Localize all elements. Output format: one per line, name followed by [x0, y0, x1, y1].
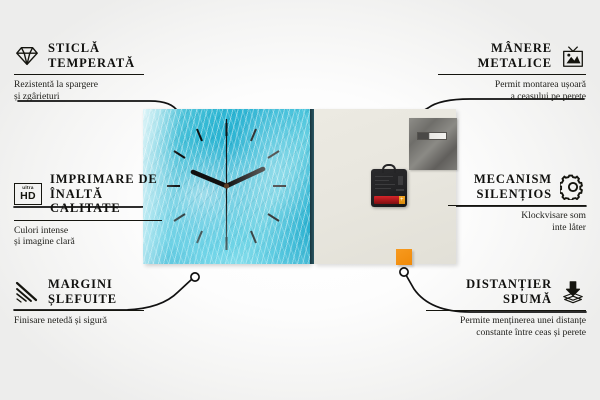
ultra-hd-icon-main-label: HD: [20, 191, 36, 202]
hour-marker: [268, 151, 279, 158]
clock-center-cap: [224, 183, 229, 188]
infographic-canvas: + STICLĂ TEMPERATĂ Rezistentă la sparger…: [0, 0, 600, 400]
feature-title: MECANISM SILENȚIOS: [474, 172, 552, 201]
feature-title: MARGINI ȘLEFUITE: [48, 277, 117, 306]
diamond-icon: [14, 43, 40, 69]
mechanism-detail: [375, 184, 395, 185]
hour-marker: [174, 151, 185, 158]
hour-hand: [193, 172, 227, 186]
mechanism-detail: [396, 189, 404, 191]
feature-foam-spacer: DISTANȚIER SPUMĂ Permite menținerea unei…: [414, 277, 586, 339]
feature-polished-edges: MARGINI ȘLEFUITE Finisare netedă și sigu…: [14, 277, 164, 327]
hour-marker: [251, 129, 256, 141]
feature-tempered-glass: STICLĂ TEMPERATĂ Rezistentă la spargere …: [14, 41, 164, 103]
connector-endpoint-foam-spacer: [400, 268, 408, 276]
feature-high-quality-print: ultra HD IMPRIMARE DE ÎNALTĂ CALITATE Cu…: [14, 172, 176, 248]
feature-silent-mechanism: MECANISM SILENȚIOS Klockvisare som inte …: [436, 172, 586, 234]
feature-title: STICLĂ TEMPERATĂ: [48, 41, 135, 70]
divider: [438, 74, 586, 75]
hour-marker: [268, 214, 279, 221]
mechanism-hanger-loop: [382, 164, 396, 173]
battery: +: [374, 196, 404, 204]
feature-title: MÂNERE METALICE: [478, 41, 552, 70]
mechanism-detail: [398, 176, 403, 185]
divider: [14, 220, 162, 221]
hour-marker: [197, 129, 202, 141]
polished-edges-icon: [14, 279, 40, 305]
divider: [14, 310, 144, 311]
mechanism-detail: [375, 176, 393, 177]
hour-marker: [197, 231, 202, 243]
feature-description: Permite menținerea unei distanțe constan…: [414, 315, 586, 338]
picture-frame-hanger-icon: [560, 43, 586, 69]
down-arrow-stack-icon: [560, 279, 586, 305]
connector-endpoint-polished-edges: [191, 273, 199, 281]
hanger-slot: [417, 132, 447, 140]
feature-description: Permit montarea ușoară a ceasului pe per…: [426, 79, 586, 102]
feature-description: Finisare netedă și sigură: [14, 315, 164, 327]
feature-metal-hangers: MÂNERE METALICE Permit montarea ușoară a…: [426, 41, 586, 103]
feature-title: IMPRIMARE DE ÎNALTĂ CALITATE: [50, 172, 176, 216]
foam-spacer-pad: [396, 249, 412, 265]
hour-marker: [251, 231, 256, 243]
divider: [448, 205, 586, 206]
gear-icon: [560, 174, 586, 200]
feature-description: Culori intense și imagine clară: [14, 225, 176, 248]
divider: [426, 310, 586, 311]
quartz-mechanism: +: [371, 169, 407, 207]
battery-positive-tip: +: [399, 196, 405, 204]
feature-description: Rezistentă la spargere și zgârieturi: [14, 79, 164, 102]
mechanism-detail: [375, 188, 391, 189]
ultra-hd-icon: ultra HD: [14, 183, 42, 205]
feature-title: DISTANȚIER SPUMĂ: [466, 277, 552, 306]
divider: [14, 74, 144, 75]
feature-description: Klockvisare som inte låter: [436, 210, 586, 233]
mechanism-detail: [375, 180, 389, 181]
minute-hand: [227, 169, 264, 186]
metal-hanger-plate: [409, 118, 457, 170]
